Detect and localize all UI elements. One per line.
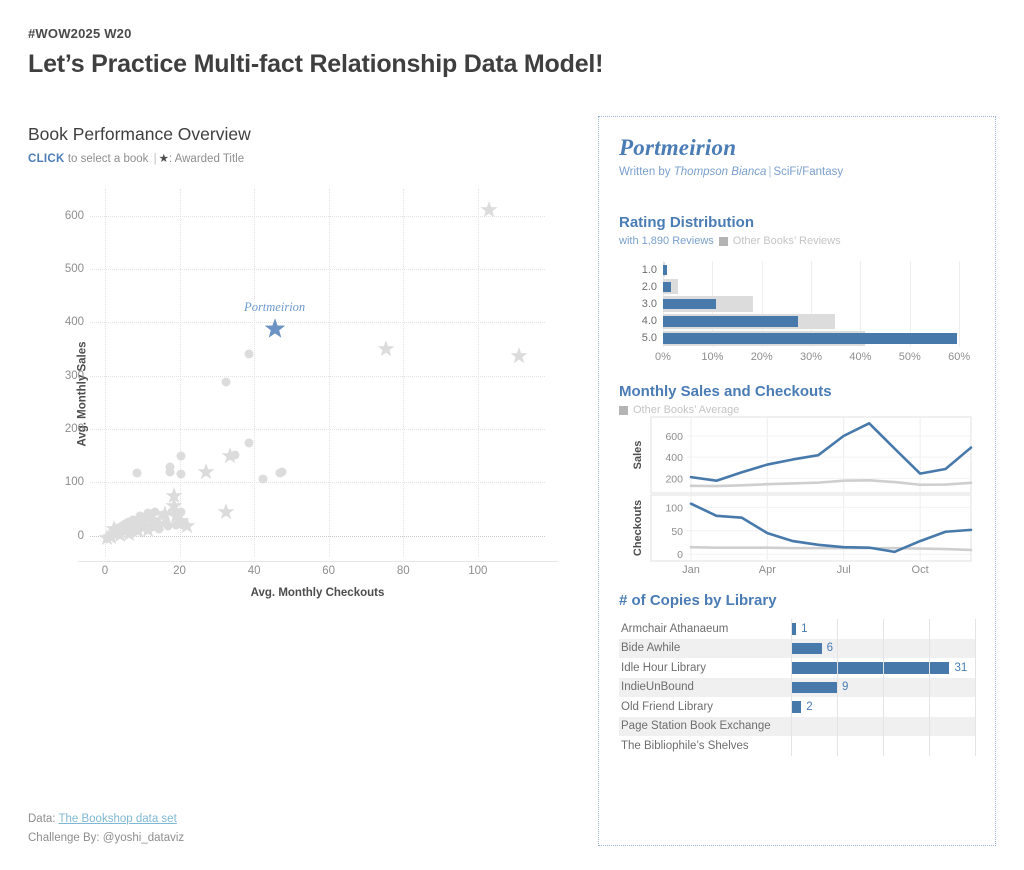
line-panel-axis-label: Sales — [632, 441, 644, 470]
scatter-point[interactable] — [141, 524, 150, 533]
scatter-x-tick: 100 — [468, 565, 487, 577]
review-count-label: with 1,890 Reviews — [619, 235, 714, 247]
book-performance-panel: Book Performance Overview CLICK to selec… — [28, 124, 573, 609]
line-y-tick: 100 — [665, 502, 683, 514]
footer: Data: The Bookshop data set Challenge By… — [28, 810, 184, 848]
library-name: Page Station Book Exchange — [619, 720, 791, 732]
scatter-y-tick: 600 — [38, 210, 84, 222]
scatter-gridline-h — [90, 216, 545, 218]
line-y-tick: 400 — [665, 452, 683, 464]
rating-row: 3.0 — [663, 295, 969, 312]
rating-bar-this-book — [663, 282, 671, 293]
rating-x-tick: 10% — [701, 351, 723, 363]
book-genre: SciFi/Fantasy — [773, 166, 843, 178]
rating-x-tick: 20% — [751, 351, 773, 363]
click-hint-rest: to select a book — [65, 153, 152, 165]
scatter-point[interactable] — [168, 508, 177, 517]
rating-category-label: 2.0 — [621, 281, 657, 293]
library-bar-track: 6 — [791, 639, 975, 659]
sales-section-title: Monthly Sales and Checkouts — [619, 383, 975, 400]
book-detail-content: Portmeirion Written by Thompson Bianca|S… — [599, 117, 995, 756]
rating-x-tick: 60% — [948, 351, 970, 363]
library-name: Armchair Athanaeum — [619, 623, 791, 635]
footer-data-label: Data: — [28, 813, 58, 825]
dashboard-header: #WOW2025 W20 Let’s Practice Multi-fact R… — [28, 26, 603, 79]
library-name: Bide Awhile — [619, 642, 791, 654]
footer-challenge: Challenge By: @yoshi_dataviz — [28, 829, 184, 848]
star-icon: ★ — [159, 153, 169, 165]
scatter-point[interactable] — [154, 525, 163, 534]
page-title: Let’s Practice Multi-fact Relationship D… — [28, 50, 603, 79]
rating-row: 2.0 — [663, 278, 969, 295]
library-name: The Bibliophile’s Shelves — [619, 740, 791, 752]
copies-by-library-section: # of Copies by Library Armchair Athanaeu… — [619, 592, 975, 756]
scatter-point[interactable] — [259, 474, 268, 483]
scatter-point[interactable] — [179, 521, 188, 530]
rating-category-label: 5.0 — [621, 332, 657, 344]
library-name: IndieUnBound — [619, 681, 791, 693]
scatter-gridline-h — [90, 322, 545, 324]
library-row: Armchair Athanaeum1 — [619, 619, 975, 639]
scatter-point-selected[interactable] — [264, 318, 286, 340]
bookshop-dataset-link[interactable]: The Bookshop data set — [58, 813, 176, 825]
library-bar-track: 31 — [791, 658, 975, 678]
written-by-label: Written by — [619, 166, 674, 178]
scatter-gridline-h — [90, 376, 545, 378]
scatter-y-tick: 300 — [38, 370, 84, 382]
scatter-x-tick: 0 — [102, 565, 108, 577]
monthly-sales-checkouts-section: Monthly Sales and Checkouts Other Books’… — [619, 383, 975, 576]
other-books-average-legend: Other Books’ Average — [633, 404, 739, 416]
scatter-point[interactable] — [106, 530, 115, 539]
footer-data-line: Data: The Bookshop data set — [28, 810, 184, 829]
book-author: Thompson Bianca — [674, 166, 767, 178]
scatter-gridline-h — [90, 269, 545, 271]
line-y-tick: 600 — [665, 431, 683, 443]
line-x-tick: Jul — [837, 564, 851, 576]
library-row: Bide Awhile6 — [619, 639, 975, 659]
library-bar-track: 9 — [791, 678, 975, 698]
rating-bar-this-book — [663, 333, 957, 344]
scatter-point[interactable] — [164, 522, 173, 531]
library-bar — [791, 662, 949, 674]
library-bar-track — [791, 736, 975, 756]
rating-row: 5.0 — [663, 330, 969, 347]
scatter-point[interactable] — [377, 340, 395, 358]
scatter-point[interactable] — [480, 201, 498, 219]
line-chart-svg: 200400600Sales050100CheckoutsJanAprJulOc… — [619, 416, 977, 576]
line-x-tick: Jan — [682, 564, 700, 576]
scatter-gridline-h — [90, 536, 545, 538]
rating-category-label: 4.0 — [621, 315, 657, 327]
scatter-point[interactable] — [177, 451, 186, 460]
scatter-point[interactable] — [244, 439, 253, 448]
library-row: Page Station Book Exchange — [619, 717, 975, 737]
scatter-y-tick: 500 — [38, 263, 84, 275]
scatter-x-tick: 20 — [173, 565, 186, 577]
book-meta: Written by Thompson Bianca|SciFi/Fantasy — [619, 166, 975, 178]
other-books-reviews-legend: Other Books’ Reviews — [733, 235, 841, 247]
click-hint: CLICK — [28, 153, 65, 165]
library-bar-track — [791, 717, 975, 737]
scatter-gridline-v — [403, 189, 405, 557]
rating-category-label: 3.0 — [621, 298, 657, 310]
rating-distribution-section: Rating Distribution with 1,890 Reviews O… — [619, 214, 975, 369]
library-row: Old Friend Library2 — [619, 697, 975, 717]
library-row: The Bibliophile’s Shelves — [619, 736, 975, 756]
library-bar — [791, 623, 796, 635]
meta-divider: | — [768, 166, 771, 178]
scatter-gridline-h — [90, 482, 545, 484]
awarded-title-label: : Awarded Title — [169, 153, 244, 165]
scatter-y-tick: 0 — [38, 530, 84, 542]
line-y-tick: 200 — [665, 473, 683, 485]
library-bar-chart: Armchair Athanaeum1Bide Awhile6Idle Hour… — [619, 619, 975, 756]
other-books-swatch-icon — [719, 237, 728, 246]
line-x-tick: Apr — [759, 564, 776, 576]
line-series — [691, 504, 971, 552]
library-bar — [791, 682, 837, 694]
scatter-x-axis-line — [78, 561, 558, 562]
scatter-gridline-h — [90, 429, 545, 431]
header-kicker: #WOW2025 W20 — [28, 26, 603, 41]
scatter-gridline-v — [254, 189, 256, 557]
scatter-subtitle: CLICK to select a book |★: Awarded Title — [28, 151, 573, 165]
subtitle-separator: | — [154, 153, 157, 165]
scatter-plot-area[interactable]: Portmeirion — [90, 189, 545, 557]
line-series — [691, 423, 971, 480]
scatter-point[interactable] — [244, 350, 253, 359]
library-value-label: 6 — [827, 642, 833, 654]
library-bar-track: 1 — [791, 619, 975, 639]
book-title: Portmeirion — [619, 135, 975, 161]
line-series — [691, 480, 971, 486]
rating-distribution-chart: 1.02.03.04.05.0 0%10%20%30%40%50%60% — [619, 261, 975, 369]
scatter-x-tick: 80 — [397, 565, 410, 577]
library-bar-track: 2 — [791, 697, 975, 717]
line-x-tick: Oct — [912, 564, 929, 576]
line-panel-axis-label: Checkouts — [632, 500, 644, 556]
scatter-point[interactable] — [197, 463, 215, 481]
library-value-label: 9 — [842, 681, 848, 693]
scatter-x-ticks: 020406080100 — [90, 565, 545, 583]
rating-x-tick: 30% — [800, 351, 822, 363]
scatter-y-tick: 100 — [38, 476, 84, 488]
rating-bar-this-book — [663, 299, 716, 310]
library-value-label: 31 — [954, 662, 967, 674]
scatter-point[interactable] — [231, 450, 240, 459]
scatter-title: Book Performance Overview — [28, 124, 573, 145]
scatter-gridline-v — [105, 189, 107, 557]
line-series — [691, 547, 971, 550]
rating-x-tick: 0% — [655, 351, 671, 363]
rating-section-subtitle: with 1,890 Reviews Other Books’ Reviews — [619, 235, 975, 247]
library-row: Idle Hour Library31 — [619, 658, 975, 678]
library-section-title: # of Copies by Library — [619, 592, 975, 609]
scatter-point[interactable] — [177, 470, 186, 479]
library-name: Old Friend Library — [619, 701, 791, 713]
scatter-y-tick: 200 — [38, 423, 84, 435]
scatter-point[interactable] — [132, 468, 141, 477]
rating-row: 1.0 — [663, 261, 969, 278]
rating-bar-this-book — [663, 265, 667, 276]
line-y-tick: 50 — [671, 526, 683, 538]
rating-category-label: 1.0 — [621, 264, 657, 276]
scatter-point[interactable] — [276, 468, 285, 477]
rating-bar-this-book — [663, 316, 798, 327]
library-bar — [791, 701, 801, 713]
line-y-tick: 0 — [677, 549, 683, 561]
library-gridline — [975, 619, 976, 756]
scatter-point[interactable] — [166, 467, 175, 476]
sales-checkouts-line-chart: 200400600Sales050100CheckoutsJanAprJulOc… — [619, 416, 977, 576]
scatter-x-tick: 40 — [248, 565, 261, 577]
dashboard: #WOW2025 W20 Let’s Practice Multi-fact R… — [0, 0, 1024, 870]
library-row: IndieUnBound9 — [619, 678, 975, 698]
scatter-gridline-v — [329, 189, 331, 557]
library-bar — [791, 643, 822, 655]
rating-x-tick: 50% — [899, 351, 921, 363]
rating-section-title: Rating Distribution — [619, 214, 975, 231]
library-value-label: 1 — [801, 623, 807, 635]
scatter-point[interactable] — [510, 347, 528, 365]
scatter-chart[interactable]: Avg. Monthly Sales 0100200300400500600 P… — [28, 179, 573, 609]
other-books-average-swatch-icon — [619, 406, 628, 415]
book-detail-panel: Portmeirion Written by Thompson Bianca|S… — [598, 116, 996, 846]
scatter-point[interactable] — [222, 378, 231, 387]
rating-row: 4.0 — [663, 313, 969, 330]
library-name: Idle Hour Library — [619, 662, 791, 674]
sales-section-legend: Other Books’ Average — [619, 404, 975, 416]
scatter-y-ticks: 0100200300400500600 — [28, 189, 84, 557]
selected-book-label: Portmeirion — [244, 300, 305, 315]
library-value-label: 2 — [806, 701, 812, 713]
scatter-x-axis-label: Avg. Monthly Checkouts — [90, 587, 545, 599]
scatter-x-tick: 60 — [322, 565, 335, 577]
scatter-gridline-v — [478, 189, 480, 557]
rating-x-tick: 40% — [849, 351, 871, 363]
scatter-y-tick: 400 — [38, 316, 84, 328]
scatter-point[interactable] — [217, 503, 235, 521]
scatter-point[interactable] — [177, 508, 186, 517]
